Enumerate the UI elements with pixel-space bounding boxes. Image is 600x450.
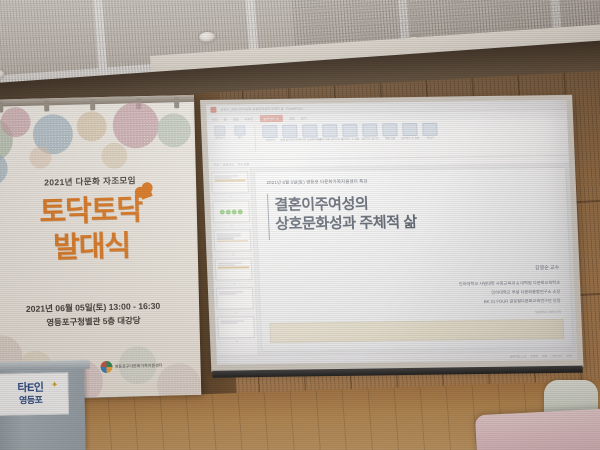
- setup-show-icon: [342, 124, 358, 137]
- slide-affiliation-3: BK 21 FOUR 글로컬다문화교육연구단 단장: [484, 298, 561, 305]
- slide-title: 결혼이주여성의 상호문화성과 주체적 삶: [274, 194, 417, 234]
- sparkle-icon: ✦: [51, 380, 59, 391]
- banner-clip: [90, 99, 95, 110]
- powerpoint-workspace: 1 2 3: [209, 164, 577, 356]
- projected-image: 김영순_결혼이주여성의 상호문화성과 주체적 삶 - PowerPoint 파일…: [206, 100, 577, 365]
- tab-home[interactable]: 홈: [224, 116, 227, 121]
- ribbon-label: 처음부터: [265, 138, 275, 142]
- room-photo-scene: 2021년 다문화 자조모임 토닥토닥 발대식 2021년 06월 05일(토)…: [0, 0, 600, 450]
- ribbon-label: 붙여넣기: [215, 136, 225, 140]
- thumb-line: [219, 294, 236, 295]
- diagram-node-icon: [226, 209, 231, 214]
- zoom-level[interactable]: 66%: [566, 354, 572, 358]
- banner-decor-circle: [76, 111, 107, 142]
- slide-title-line2: 상호문화성과 주체적 삶: [275, 213, 417, 234]
- slide-footer-band: [269, 319, 564, 343]
- thumb-line: [220, 323, 237, 324]
- ribbon-group-clipboard: 붙여넣기 복사: [211, 125, 249, 140]
- ribbon-label: 복사: [238, 135, 243, 139]
- powerpoint-logo-icon: [210, 106, 216, 112]
- present-online-icon: [302, 124, 318, 137]
- table-with-cloth: [475, 409, 600, 450]
- thumb-line: [217, 236, 241, 238]
- banner-venue: 영등포구청별관 5층 대강당: [0, 313, 200, 330]
- record-icon: [402, 123, 418, 136]
- thumb-line: [218, 262, 242, 264]
- ribbon-label: 슬라이드 쇼 녹화: [401, 136, 419, 140]
- ribbon-separator: [254, 125, 256, 151]
- thumb-line: [219, 291, 243, 293]
- play-current-icon: [282, 125, 298, 138]
- podium-sign-line1: 타E인: [17, 383, 43, 395]
- ribbon-button-hide-slide[interactable]: 슬라이드 숨기기: [361, 124, 379, 141]
- banner-title-line2: 발대식: [0, 221, 198, 268]
- ribbon-label: 슬라이드 숨기기: [361, 136, 379, 140]
- slide-thumbnail[interactable]: [213, 229, 251, 251]
- slide-number: 5: [217, 311, 254, 315]
- banner-decor-circle: [112, 102, 159, 149]
- tab-view[interactable]: 보기: [301, 115, 307, 120]
- tab-slideshow-active[interactable]: 슬라이드 쇼: [259, 114, 283, 121]
- logo-mark-icon: [101, 361, 113, 373]
- ribbon-label: 예행 연습: [385, 136, 395, 140]
- slide-presenter: 김영순 교수: [535, 264, 560, 271]
- status-notes[interactable]: 메모: [542, 354, 547, 358]
- thumb-line: [214, 175, 238, 177]
- ribbon-label: 슬라이드 쇼 설정: [341, 137, 359, 141]
- status-language[interactable]: 한국어: [530, 354, 538, 358]
- slide-thumbnail[interactable]: [215, 258, 253, 280]
- thumb-line: [214, 180, 245, 182]
- quick-access-save[interactable]: 저장: [214, 162, 219, 166]
- ribbon-group-slideshow: 처음부터 현재 슬라이드부터 온라인 프레젠테이션 사용자 지정 슬라: [261, 123, 439, 142]
- ribbon-button-monitor[interactable]: 모니터: [421, 123, 439, 140]
- slide-thumbnail[interactable]: [212, 200, 250, 222]
- thumb-line: [217, 240, 248, 242]
- tab-file[interactable]: 파일: [212, 116, 218, 121]
- play-from-start-icon: [262, 125, 278, 138]
- copy-icon: [234, 125, 245, 135]
- slide-thumbnail[interactable]: [216, 287, 254, 309]
- rehearse-icon: [382, 123, 398, 136]
- slide-number: 3: [214, 253, 251, 257]
- ribbon-button-custom-show[interactable]: 사용자 지정 슬라이드 쇼: [321, 124, 339, 141]
- ribbon-button-from-start[interactable]: 처음부터: [261, 125, 279, 142]
- slide-number: 2: [213, 224, 250, 228]
- paste-icon: [214, 126, 225, 136]
- podium: ✦ 타E인 영등포: [0, 366, 86, 450]
- banner-decor-circle: [0, 107, 31, 138]
- thumb-line: [218, 267, 249, 269]
- logo-multicultural-center: 영등포구다문화가족지원센터: [101, 360, 163, 374]
- ribbon-button-paste[interactable]: 붙여넣기: [211, 126, 229, 140]
- custom-show-icon: [322, 124, 338, 137]
- slide-number: 6: [218, 340, 255, 344]
- slide-title-accent-bar: [267, 194, 270, 240]
- monitor-icon: [422, 123, 438, 136]
- diagram-node-icon: [220, 209, 225, 214]
- banner-clip: [0, 101, 3, 112]
- diagram-node-icon: [238, 209, 243, 214]
- banner-decor-circle: [29, 146, 52, 169]
- ribbon-label: 현재 슬라이드부터: [280, 138, 300, 142]
- slide-number: 4: [216, 282, 253, 286]
- status-slide-counter: 슬라이드 1/12: [510, 354, 527, 358]
- banner-clip: [44, 100, 49, 111]
- ribbon-button-rehearse[interactable]: 예행 연습: [381, 123, 399, 140]
- slide-affiliation-1: 인하대학교 사범대학 사회교육과 & 대학원 다문화교육학과: [459, 280, 560, 287]
- slide-thumbnail[interactable]: [217, 316, 255, 338]
- podium-sign: ✦ 타E인 영등포: [0, 372, 69, 416]
- tab-review[interactable]: 검토: [289, 115, 295, 120]
- ribbon-button-copy[interactable]: 복사: [231, 125, 249, 139]
- slide-editor-area[interactable]: 2021년 6월 5일(토) 영등포 다문화가족지원센터 특강 결혼이주여성의 …: [251, 164, 577, 355]
- tab-design[interactable]: 디자인: [244, 116, 253, 121]
- projection-screen: 김영순_결혼이주여성의 상호문화성과 주체적 삶 - PowerPoint 파일…: [200, 95, 583, 372]
- banner-decor-circle: [101, 142, 128, 169]
- banner-clip: [174, 97, 179, 108]
- quick-access-undo[interactable]: 실행 취소: [223, 162, 234, 166]
- ribbon-button-from-current[interactable]: 현재 슬라이드부터: [281, 125, 299, 142]
- slide-url: WWW.CIMS.KR: [535, 310, 561, 314]
- slide-header-text: 2021년 6월 5일(토) 영등포 다문화가족지원센터 특강: [266, 179, 367, 186]
- window-title: 김영순_결혼이주여성의 상호문화성과 주체적 삶 - PowerPoint: [220, 106, 302, 112]
- ribbon-button-present-online[interactable]: 온라인 프레젠테이션: [301, 124, 319, 141]
- thumb-line: [220, 320, 244, 322]
- current-slide[interactable]: 2021년 6월 5일(토) 영등포 다문화가족지원센터 특강 결혼이주여성의 …: [255, 168, 573, 351]
- thumb-line: [217, 238, 234, 239]
- podium-sign-line2: 영등포: [19, 396, 43, 405]
- ribbon-button-record[interactable]: 슬라이드 쇼 녹화: [401, 123, 419, 140]
- hide-slide-icon: [362, 124, 378, 137]
- banner-decor-circle: [156, 113, 191, 148]
- ribbon-button-setup-show[interactable]: 슬라이드 쇼 설정: [341, 124, 359, 141]
- slide-thumbnail[interactable]: [211, 171, 249, 193]
- ribbon-label: 모니터: [427, 136, 434, 140]
- ribbon-label: 사용자 지정 슬라이드 쇼: [317, 137, 343, 141]
- view-button-normal[interactable]: 기본 보기: [551, 354, 562, 358]
- event-banner: 2021년 다문화 자조모임 토닥토닥 발대식 2021년 06월 05일(토)…: [0, 95, 201, 400]
- slide-number: 1: [212, 195, 249, 199]
- podium-top-surface: [0, 360, 90, 371]
- diagram-node-icon: [232, 209, 237, 214]
- tab-insert[interactable]: 삽입: [233, 116, 239, 121]
- slide-affiliation-2: 인하대학교 부설 다문화융합연구소 소장: [491, 289, 560, 296]
- logo-right-label: 영등포구다문화가족지원센터: [115, 363, 163, 369]
- ribbon[interactable]: 붙여넣기 복사 처음부터: [207, 118, 569, 161]
- slide-title-line1: 결혼이주여성의: [274, 194, 416, 215]
- quick-access-redo[interactable]: 다시 실행: [238, 162, 249, 166]
